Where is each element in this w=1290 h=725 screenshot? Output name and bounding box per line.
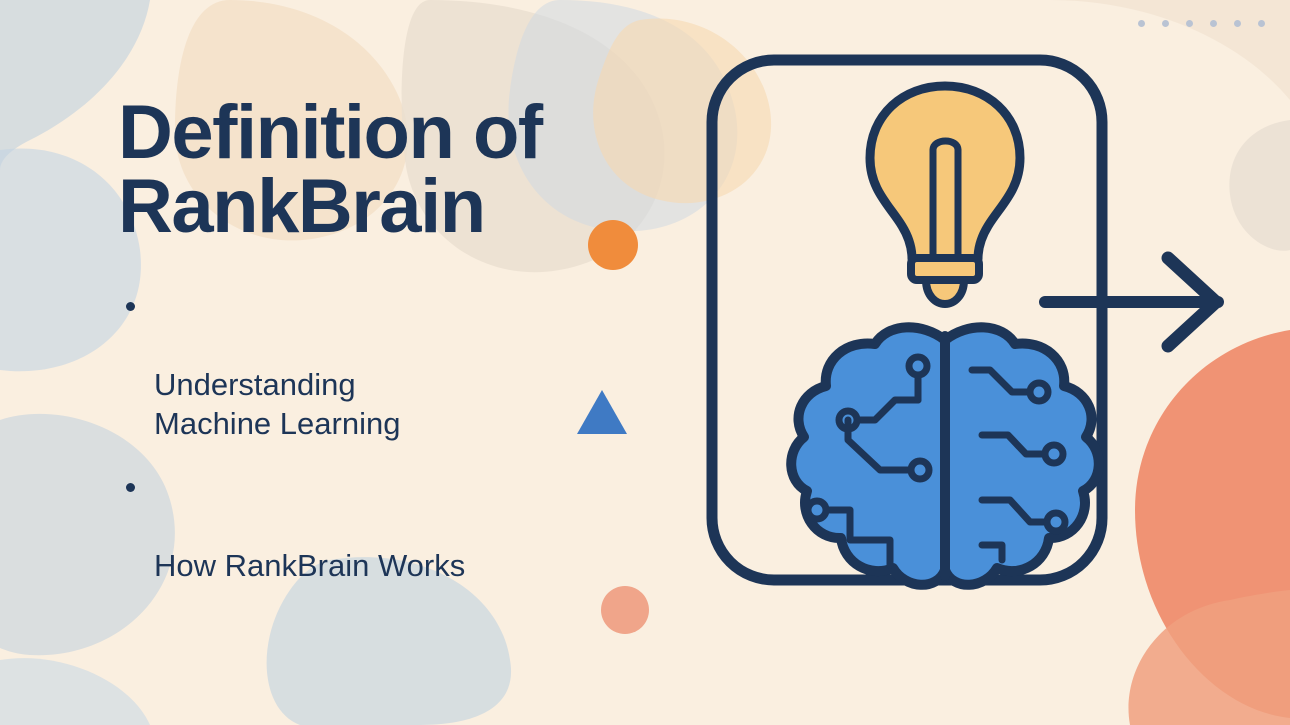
bullet-list: Understanding Machine Learning How RankB… xyxy=(118,289,678,586)
list-item-label: Understanding Machine Learning xyxy=(154,367,400,441)
bullet-dot-icon xyxy=(126,302,135,311)
decorative-dot xyxy=(1234,20,1241,27)
decorative-dot xyxy=(1138,20,1145,27)
list-item-label: How RankBrain Works xyxy=(154,548,465,583)
decorative-dot xyxy=(1210,20,1217,27)
list-item: How RankBrain Works xyxy=(118,470,678,586)
slide-content: Definition of RankBrain Understanding Ma… xyxy=(118,96,678,612)
list-item: Understanding Machine Learning xyxy=(118,289,678,444)
lightbulb-icon xyxy=(870,86,1020,304)
bullet-dot-icon xyxy=(126,483,135,492)
decorative-dots-row xyxy=(1138,20,1265,27)
decorative-dot xyxy=(1258,20,1265,27)
arrow-right-icon xyxy=(1045,258,1218,346)
decorative-dot xyxy=(1162,20,1169,27)
slide-canvas: Definition of RankBrain Understanding Ma… xyxy=(0,0,1290,725)
decorative-dot xyxy=(1186,20,1193,27)
page-title: Definition of RankBrain xyxy=(118,96,678,245)
rankbrain-illustration xyxy=(690,40,1250,640)
brain-circuit-icon xyxy=(791,327,1099,584)
